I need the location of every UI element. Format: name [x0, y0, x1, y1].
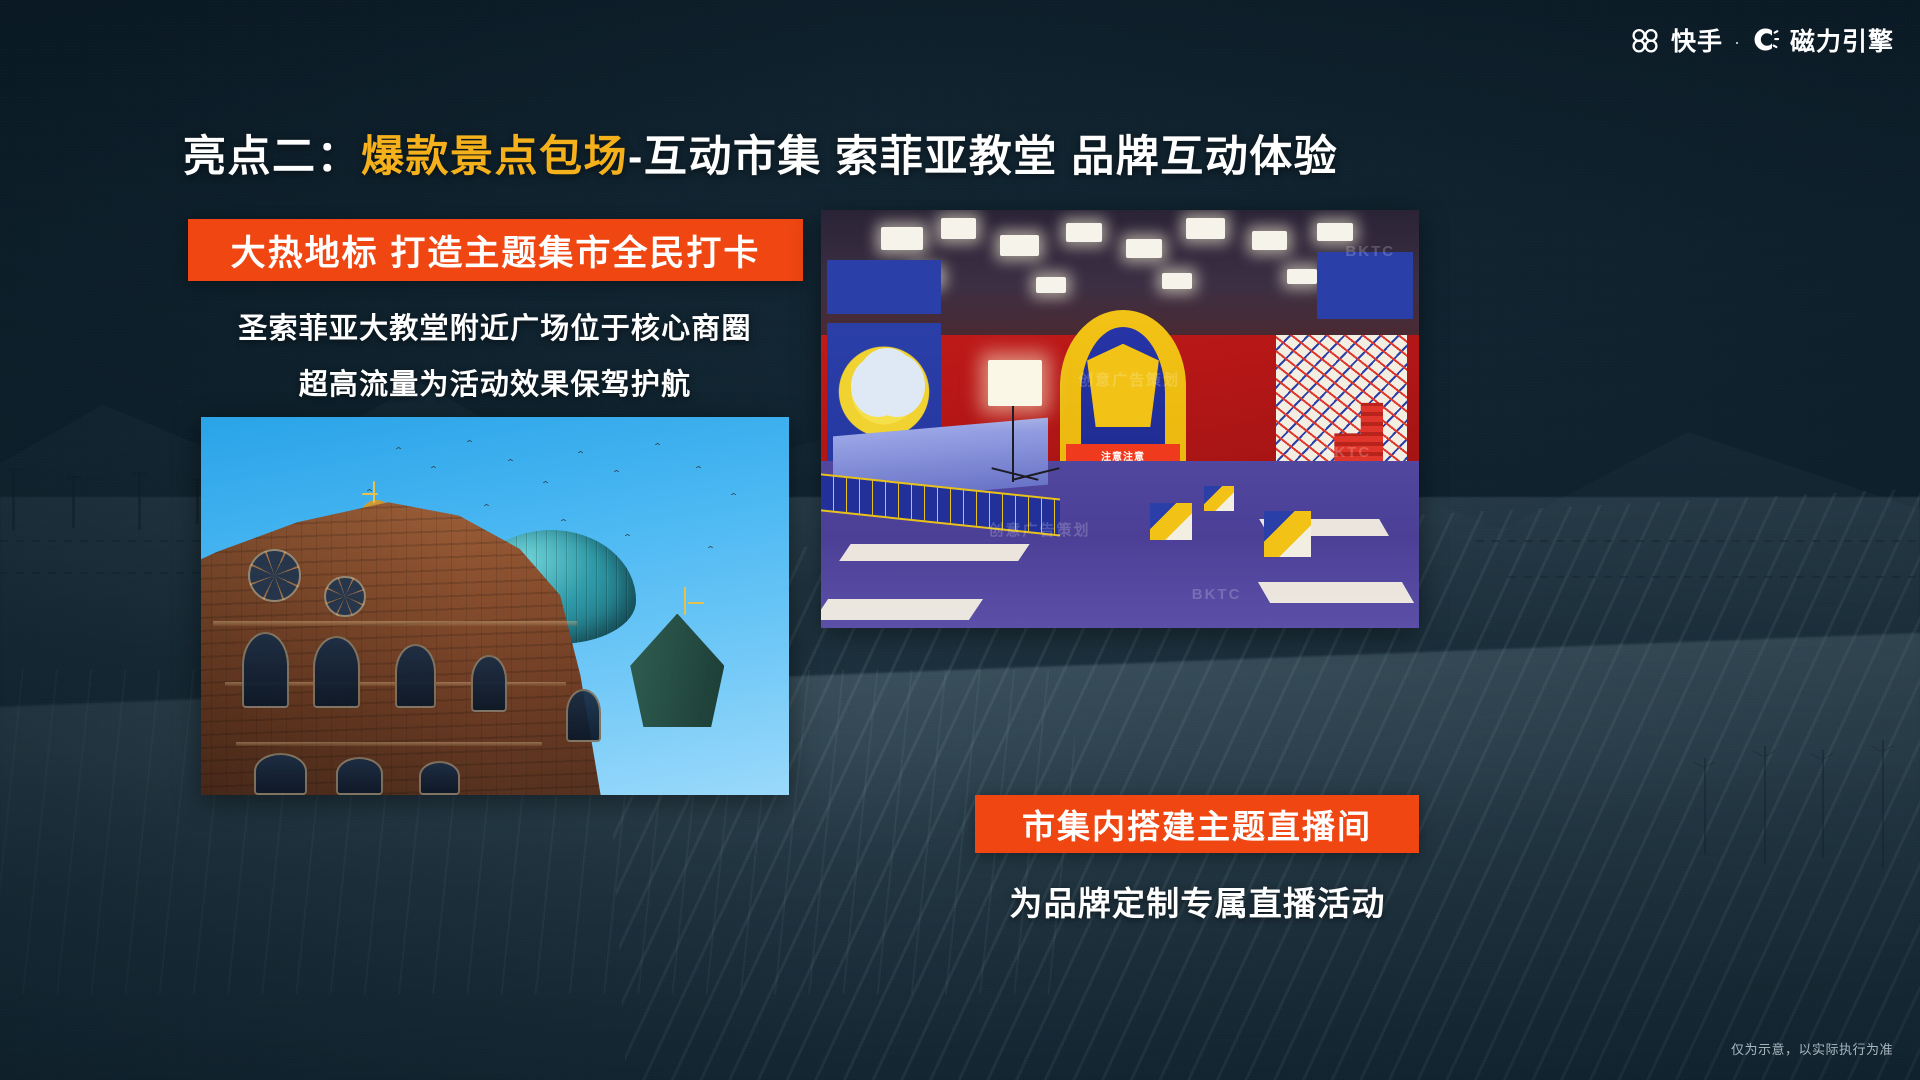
disclaimer-text: 仅为示意，以实际执行为准 [1731, 1039, 1893, 1058]
title-highlight: 爆款景点包场 [361, 133, 628, 181]
logo-brand-text: 快手 [1671, 30, 1723, 55]
brand-logo: 快手 · 磁力引擎 [1630, 26, 1894, 58]
church-window [242, 632, 289, 708]
saint-sophia-cathedral-photo [201, 417, 789, 795]
set-ceiling-light [1066, 223, 1102, 242]
set-ceiling-light [1126, 239, 1162, 258]
set-softbox-light [988, 360, 1042, 406]
church-cross-horizontal [362, 493, 378, 495]
set-cube-prop [1204, 486, 1234, 511]
page-title: 亮点二：爆款景点包场-互动市集 索菲亚教堂 品牌互动体验 [183, 122, 1338, 184]
title-prefix: 亮点二： [183, 133, 361, 181]
church-window [313, 636, 360, 708]
set-badge [1087, 344, 1159, 428]
set-blue-block [827, 260, 941, 314]
set-ceiling-light [941, 218, 977, 239]
left-subtitle-line-2: 超高流量为活动效果保驾护航 [200, 361, 790, 403]
magnetic-engine-icon [1751, 26, 1779, 58]
church-window [566, 689, 601, 742]
church-window [471, 655, 506, 712]
church-window [419, 761, 460, 795]
set-tripod-pole [1012, 406, 1014, 481]
logo-product-text: 磁力引擎 [1790, 30, 1894, 55]
church-window [395, 644, 436, 708]
set-ceiling-light [1162, 273, 1192, 289]
church-rose-window [248, 549, 301, 602]
slide-root: 快手 · 磁力引擎 亮点二：爆款景点包场-互动市集 索菲亚教堂 品牌互动体验 大… [0, 0, 1920, 1080]
set-cube-prop [1264, 511, 1312, 557]
set-popart-cloud [857, 348, 917, 415]
church-rose-window [324, 576, 365, 618]
kuaishou-camera-icon [1630, 27, 1660, 58]
right-banner: 市集内搭建主题直播间 [975, 795, 1419, 853]
set-ceiling-light [1252, 231, 1288, 250]
set-cube-prop [1150, 503, 1192, 541]
church-window [254, 753, 307, 795]
logo-separator: · [1734, 33, 1740, 51]
right-subtitle-line-1: 为品牌定制专属直播活动 [915, 877, 1480, 925]
title-suffix: -互动市集 索菲亚教堂 品牌互动体验 [628, 133, 1338, 181]
themed-market-livestream-set-photo: 注意注意 BKTC 创意广告策划 BKTC 创意广告策划 BKTC [821, 210, 1419, 628]
set-ceiling-light [1317, 223, 1353, 241]
set-ceiling-light [1036, 277, 1066, 293]
set-blue-block [1317, 252, 1413, 319]
left-subtitle-line-1: 圣索菲亚大教堂附近广场位于核心商圈 [200, 305, 790, 347]
set-ceiling-light [1287, 269, 1317, 284]
set-ceiling-light [1000, 235, 1039, 256]
church-window [336, 757, 383, 795]
set-ceiling-light [1186, 218, 1225, 239]
left-banner: 大热地标 打造主题集市全民打卡 [188, 219, 803, 281]
set-ceiling-light [881, 227, 923, 250]
